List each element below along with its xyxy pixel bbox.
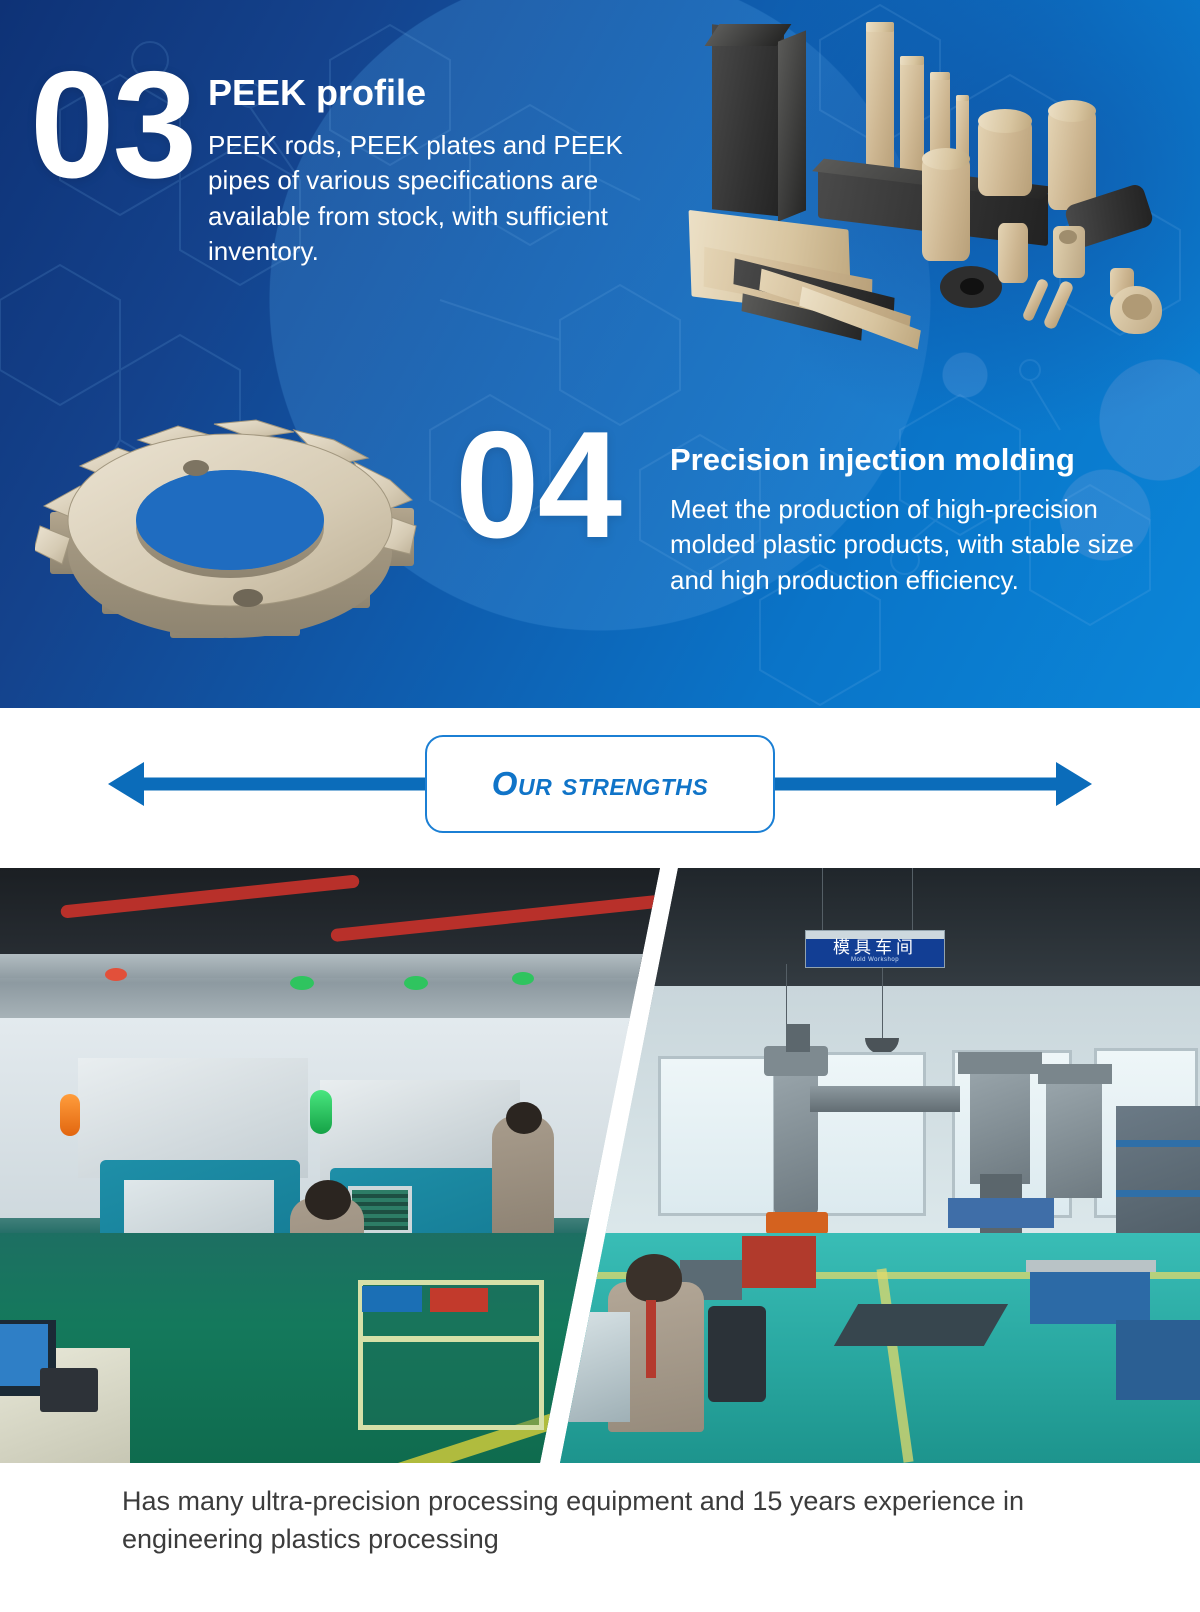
workshop-sign: 模具车间 Mold Workshop: [805, 930, 945, 968]
workshop-sign-en: Mold Workshop: [851, 956, 899, 964]
arrow-left-icon: [108, 762, 144, 806]
strengths-label: Our strengths: [492, 765, 708, 803]
peek-products-image: [690, 8, 1190, 353]
workshop-sign-cn: 模具车间: [833, 939, 917, 956]
feature-block-04: 04 Precision injection molding Meet the …: [455, 420, 1145, 598]
caption-text: Has many ultra-precision processing equi…: [122, 1482, 1080, 1559]
feature-title-04: Precision injection molding: [670, 442, 1145, 478]
feature-block-03: 03 PEEK profile PEEK rods, PEEK plates a…: [30, 60, 638, 269]
caption-block: Has many ultra-precision processing equi…: [0, 1468, 1200, 1559]
feature-number-03: 03: [30, 60, 208, 191]
arrow-right-icon: [1056, 762, 1092, 806]
feature-body-04: Meet the production of high-precision mo…: [670, 492, 1145, 598]
strengths-label-box: Our strengths: [425, 735, 775, 833]
peek-gear-ring-image: [35, 385, 425, 670]
photo-cnc-workshop: [0, 868, 672, 1463]
feature-title-03: PEEK profile: [208, 72, 638, 114]
workshop-photo-pair: 模具车间 Mold Workshop: [0, 868, 1200, 1463]
hero-section: 03 PEEK profile PEEK rods, PEEK plates a…: [0, 0, 1200, 708]
feature-number-04: 04: [455, 420, 670, 551]
our-strengths-banner: Our strengths: [0, 708, 1200, 860]
photo-mold-workshop: 模具车间 Mold Workshop: [560, 868, 1200, 1463]
feature-body-03: PEEK rods, PEEK plates and PEEK pipes of…: [208, 128, 638, 269]
